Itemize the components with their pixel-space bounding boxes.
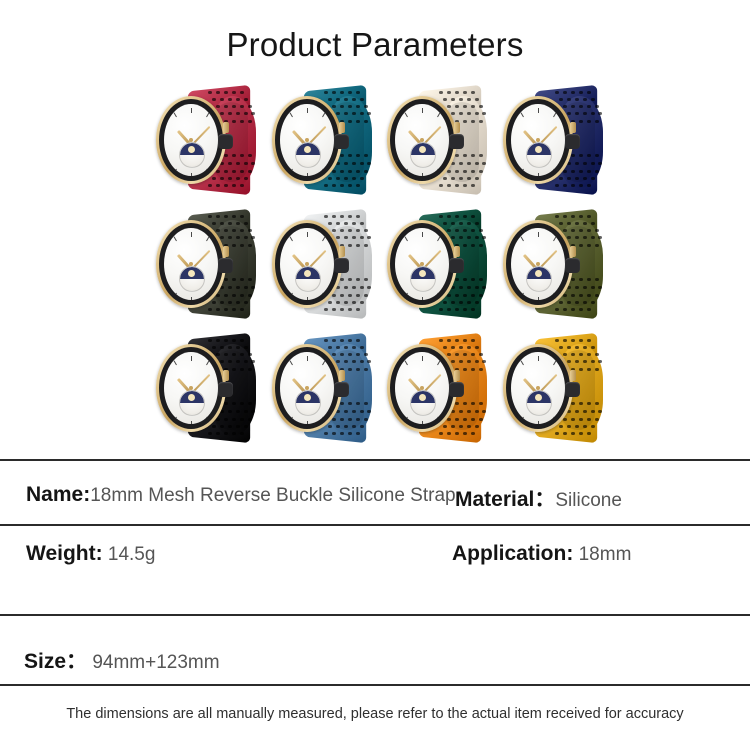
strap-perforation <box>248 368 252 371</box>
strap-perforation <box>591 222 595 225</box>
strap-perforation <box>240 244 244 247</box>
strap-perforation <box>463 154 467 157</box>
dial-hour-tick <box>322 169 325 174</box>
strap-perforation <box>224 353 228 356</box>
reverse-buckle-clasp <box>565 134 580 149</box>
watch-variant-row1-col4[interactable] <box>499 82 614 200</box>
strap-perforation <box>352 112 356 115</box>
strap-perforation <box>364 294 368 297</box>
moon-phase-icon <box>411 391 435 403</box>
strap-perforation <box>216 418 220 421</box>
strap-perforation <box>228 346 232 349</box>
strap-perforation <box>579 91 583 94</box>
strap-perforation <box>595 170 599 173</box>
strap-perforation <box>248 278 252 281</box>
strap-perforation <box>212 301 216 304</box>
watch-illustration <box>152 330 267 448</box>
strap-perforation <box>340 418 344 421</box>
strap-perforation <box>571 294 575 297</box>
strap-perforation <box>591 177 595 180</box>
dial-hour-tick <box>511 406 513 409</box>
dial-hour-tick <box>564 249 565 252</box>
dial-hour-tick <box>289 236 292 241</box>
strap-perforation <box>439 339 443 342</box>
dial-hour-tick <box>395 282 397 285</box>
spec-weight: Weight: 14.5g <box>26 542 155 566</box>
dial-hour-tick <box>553 417 556 422</box>
dial-hour-tick <box>280 125 282 128</box>
dial-hour-tick <box>405 417 408 422</box>
strap-perforation <box>598 410 602 413</box>
moon-phase-icon <box>180 391 204 403</box>
strap-perforation <box>224 278 228 281</box>
moon-phase-subdial <box>295 390 321 416</box>
dial-hour-tick <box>437 417 440 422</box>
strap-perforation <box>583 112 587 115</box>
strap-perforation <box>356 418 360 421</box>
strap-perforation <box>356 170 360 173</box>
strap-perforation <box>595 120 599 123</box>
dial-hour-tick <box>206 112 209 117</box>
strap-perforation <box>236 286 240 289</box>
dial-hour-tick <box>448 406 449 409</box>
strap-perforation <box>244 410 248 413</box>
strap-perforation <box>482 112 486 115</box>
watch-dial <box>280 104 334 176</box>
reverse-buckle-clasp <box>334 258 349 273</box>
strap-perforation <box>579 402 583 405</box>
moon-phase-subdial <box>410 142 436 168</box>
strap-perforation <box>240 229 244 232</box>
strap-perforation <box>348 91 352 94</box>
dial-hour-tick <box>422 421 423 424</box>
strap-perforation <box>575 222 579 225</box>
strap-perforation <box>471 353 475 356</box>
watch-variant-row1-col3[interactable] <box>383 82 498 200</box>
strap-perforation <box>216 294 220 297</box>
strap-perforation <box>244 236 248 239</box>
dial-hour-tick <box>174 360 177 365</box>
strap-perforation <box>587 278 591 281</box>
strap-perforation <box>356 120 360 123</box>
strap-perforation <box>232 278 236 281</box>
watch-variant-row3-col4[interactable] <box>499 330 614 448</box>
watch-case <box>272 344 342 432</box>
crown-button <box>339 370 345 381</box>
strap-perforation <box>467 162 471 165</box>
strap-perforation <box>328 177 332 180</box>
watch-case <box>272 96 342 184</box>
strap-perforation <box>216 353 220 356</box>
strap-perforation <box>598 236 602 239</box>
watch-illustration <box>499 206 614 324</box>
moon-phase-icon <box>527 143 551 155</box>
dial-hour-tick <box>206 360 209 365</box>
strap-perforation <box>559 177 563 180</box>
watch-variant-row1-col1[interactable] <box>152 82 267 200</box>
dial-hour-tick <box>217 158 218 161</box>
strap-perforation <box>579 308 583 311</box>
strap-perforation <box>248 244 252 247</box>
dial-hour-tick <box>289 169 292 174</box>
strap-perforation <box>244 286 248 289</box>
strap-perforation <box>479 294 483 297</box>
strap-perforation <box>463 170 467 173</box>
strap-perforation <box>208 339 212 342</box>
watch-illustration <box>152 206 267 324</box>
strap-perforation <box>475 286 479 289</box>
dial-hour-tick <box>448 125 449 128</box>
strap-perforation <box>571 402 575 405</box>
strap-perforation <box>471 91 475 94</box>
strap-perforation <box>579 229 583 232</box>
strap-perforation <box>348 432 352 435</box>
strap-perforation <box>575 360 579 363</box>
watch-variant-row3-col2[interactable] <box>268 330 383 448</box>
strap-perforation <box>336 222 340 225</box>
strap-perforation <box>571 184 575 187</box>
strap-perforation <box>344 425 348 428</box>
watch-variant-row2-col3[interactable] <box>383 206 498 324</box>
strap-perforation <box>455 294 459 297</box>
watch-bezel <box>390 347 454 429</box>
strap-perforation <box>356 278 360 281</box>
strap-perforation <box>467 301 471 304</box>
strap-perforation <box>340 229 344 232</box>
strap-perforation <box>591 410 595 413</box>
strap-perforation <box>232 402 236 405</box>
watch-variant-row3-col3[interactable] <box>383 330 498 448</box>
strap-perforation <box>240 432 244 435</box>
strap-perforation <box>248 229 252 232</box>
moon-phase-icon <box>527 267 551 279</box>
watch-illustration <box>383 82 498 200</box>
strap-perforation <box>236 177 240 180</box>
dial-hour-tick <box>538 421 539 424</box>
strap-perforation <box>352 177 356 180</box>
strap-perforation <box>364 278 368 281</box>
strap-perforation <box>232 170 236 173</box>
strap-perforation <box>348 184 352 187</box>
strap-perforation <box>240 339 244 342</box>
strap-perforation <box>591 360 595 363</box>
strap-perforation <box>356 432 360 435</box>
watch-bezel <box>506 99 570 181</box>
strap-perforation <box>352 346 356 349</box>
strap-perforation <box>587 215 591 218</box>
strap-perforation <box>216 432 220 435</box>
strap-perforation <box>447 353 451 356</box>
dial-hour-tick <box>307 297 308 300</box>
strap-perforation <box>340 91 344 94</box>
strap-perforation <box>459 286 463 289</box>
strap-perforation <box>575 98 579 101</box>
strap-perforation <box>555 432 559 435</box>
strap-perforation <box>579 184 583 187</box>
watch-dial <box>164 352 218 424</box>
strap-perforation <box>220 346 224 349</box>
spec-size: Size： 94mm+123mm <box>24 645 220 675</box>
strap-perforation <box>451 236 455 239</box>
dial-hour-tick <box>280 282 282 285</box>
strap-perforation <box>236 346 240 349</box>
strap-perforation <box>451 222 455 225</box>
reverse-buckle-clasp <box>218 134 233 149</box>
watch-bezel <box>275 347 339 429</box>
watch-bezel <box>506 347 570 429</box>
dial-hour-tick <box>206 293 209 298</box>
strap-perforation <box>240 91 244 94</box>
strap-perforation <box>479 418 483 421</box>
dial-hour-tick <box>448 249 449 252</box>
strap-perforation <box>332 91 336 94</box>
dial-hour-tick <box>553 112 556 117</box>
strap-perforation <box>240 120 244 123</box>
strap-perforation <box>575 346 579 349</box>
moon-phase-icon <box>296 267 320 279</box>
dial-hour-tick <box>405 293 408 298</box>
strap-perforation <box>479 402 483 405</box>
strap-perforation <box>447 229 451 232</box>
strap-perforation <box>587 120 591 123</box>
strap-perforation <box>224 402 228 405</box>
strap-perforation <box>475 236 479 239</box>
strap-perforation <box>467 410 471 413</box>
strap-perforation <box>479 353 483 356</box>
strap-perforation <box>571 432 575 435</box>
reverse-buckle-clasp <box>449 258 464 273</box>
strap-perforation <box>356 368 360 371</box>
strap-perforation <box>348 170 352 173</box>
strap-perforation <box>563 105 567 108</box>
strap-perforation <box>482 360 486 363</box>
strap-perforation <box>344 360 348 363</box>
strap-perforation <box>567 177 571 180</box>
strap-perforation <box>459 162 463 165</box>
watch-bezel <box>506 223 570 305</box>
strap-perforation <box>251 162 255 165</box>
strap-perforation <box>575 425 579 428</box>
strap-perforation <box>248 170 252 173</box>
crown-button <box>454 370 460 381</box>
dial-hour-tick <box>405 169 408 174</box>
spec-size-label: Size： <box>24 650 87 673</box>
strap-perforation <box>575 162 579 165</box>
strap-perforation <box>471 244 475 247</box>
strap-perforation <box>251 360 255 363</box>
strap-perforation <box>248 105 252 108</box>
strap-perforation <box>360 410 364 413</box>
strap-perforation <box>591 236 595 239</box>
strap-perforation <box>587 402 591 405</box>
strap-perforation <box>340 105 344 108</box>
strap-perforation <box>479 278 483 281</box>
dial-hour-tick <box>538 297 539 300</box>
strap-perforation <box>475 162 479 165</box>
moon-phase-icon <box>296 391 320 403</box>
watch-case <box>387 220 457 308</box>
strap-perforation <box>459 360 463 363</box>
strap-perforation <box>459 177 463 180</box>
watch-case <box>503 96 573 184</box>
watch-variant-row2-col4[interactable] <box>499 206 614 324</box>
dial-hour-tick <box>511 125 513 128</box>
strap-perforation <box>455 308 459 311</box>
strap-perforation <box>559 301 563 304</box>
strap-perforation <box>240 353 244 356</box>
strap-perforation <box>232 91 236 94</box>
moon-phase-subdial <box>526 142 552 168</box>
dial-hour-tick <box>448 158 449 161</box>
watch-variant-row3-col1[interactable] <box>152 330 267 448</box>
crown-button <box>454 122 460 133</box>
strap-perforation <box>348 339 352 342</box>
strap-perforation <box>328 301 332 304</box>
strap-perforation <box>220 301 224 304</box>
strap-perforation <box>467 360 471 363</box>
strap-perforation <box>555 308 559 311</box>
strap-perforation <box>447 215 451 218</box>
strap-perforation <box>360 301 364 304</box>
strap-perforation <box>575 177 579 180</box>
dial-hour-tick <box>405 236 408 241</box>
crown-button <box>339 122 345 133</box>
strap-perforation <box>571 353 575 356</box>
strap-perforation <box>563 353 567 356</box>
strap-perforation <box>232 353 236 356</box>
dial-hour-tick <box>520 360 523 365</box>
strap-perforation <box>344 112 348 115</box>
strap-perforation <box>228 286 232 289</box>
strap-perforation <box>248 418 252 421</box>
strap-perforation <box>332 215 336 218</box>
strap-perforation <box>348 308 352 311</box>
dial-hour-tick <box>206 417 209 422</box>
strap-perforation <box>463 308 467 311</box>
strap-perforation <box>356 308 360 311</box>
watch-variant-row2-col1[interactable] <box>152 206 267 324</box>
strap-perforation <box>364 229 368 232</box>
moon-phase-subdial <box>295 266 321 292</box>
page-title: Product Parameters <box>0 26 750 64</box>
strap-perforation <box>216 105 220 108</box>
reverse-buckle-clasp <box>218 382 233 397</box>
dial-hour-tick <box>422 108 423 113</box>
strap-perforation <box>579 294 583 297</box>
strap-perforation <box>248 294 252 297</box>
dial-hour-tick <box>538 173 539 176</box>
spec-material-label: Material： <box>455 488 555 511</box>
strap-perforation <box>344 346 348 349</box>
spec-name-value: 18mm Mesh Reverse Buckle Silicone Strap <box>90 485 455 506</box>
strap-perforation <box>575 286 579 289</box>
strap-perforation <box>583 236 587 239</box>
moon-phase-subdial <box>179 390 205 416</box>
strap-perforation <box>579 432 583 435</box>
strap-perforation <box>595 294 599 297</box>
strap-perforation <box>324 215 328 218</box>
strap-perforation <box>447 339 451 342</box>
strap-perforation <box>591 286 595 289</box>
strap-perforation <box>459 425 463 428</box>
strap-perforation <box>471 105 475 108</box>
strap-perforation <box>332 432 336 435</box>
dial-hour-tick <box>217 282 218 285</box>
strap-perforation <box>324 184 328 187</box>
strap-perforation <box>591 301 595 304</box>
strap-perforation <box>455 184 459 187</box>
strap-perforation <box>598 286 602 289</box>
strap-perforation <box>475 425 479 428</box>
dial-hour-tick <box>553 236 556 241</box>
strap-perforation <box>482 162 486 165</box>
strap-perforation <box>471 278 475 281</box>
strap-perforation <box>232 105 236 108</box>
strap-perforation <box>208 432 212 435</box>
strap-perforation <box>579 105 583 108</box>
dial-hour-tick <box>174 236 177 241</box>
watch-variant-row2-col2[interactable] <box>268 206 383 324</box>
strap-perforation <box>352 162 356 165</box>
strap-perforation <box>455 91 459 94</box>
dial-hour-tick <box>422 297 423 300</box>
strap-perforation <box>232 229 236 232</box>
moon-phase-subdial <box>410 390 436 416</box>
strap-perforation <box>447 418 451 421</box>
strap-perforation <box>220 222 224 225</box>
strap-perforation <box>463 418 467 421</box>
strap-perforation <box>583 346 587 349</box>
strap-perforation <box>591 162 595 165</box>
strap-perforation <box>482 236 486 239</box>
strap-perforation <box>587 154 591 157</box>
strap-perforation <box>451 360 455 363</box>
strap-perforation <box>216 339 220 342</box>
strap-perforation <box>244 301 248 304</box>
strap-perforation <box>567 222 571 225</box>
strap-perforation <box>479 105 483 108</box>
strap-perforation <box>571 339 575 342</box>
strap-perforation <box>240 278 244 281</box>
watch-variant-row1-col2[interactable] <box>268 82 383 200</box>
strap-perforation <box>360 360 364 363</box>
dial-hour-tick <box>217 249 218 252</box>
moon-phase-icon <box>411 267 435 279</box>
strap-perforation <box>224 105 228 108</box>
strap-perforation <box>475 360 479 363</box>
strap-perforation <box>463 215 467 218</box>
dial-hour-tick <box>307 421 308 424</box>
strap-perforation <box>356 154 360 157</box>
strap-perforation <box>598 162 602 165</box>
strap-perforation <box>595 402 599 405</box>
strap-perforation <box>451 177 455 180</box>
strap-perforation <box>332 229 336 232</box>
dial-hour-tick <box>405 360 408 365</box>
strap-perforation <box>583 286 587 289</box>
strap-perforation <box>598 360 602 363</box>
strap-perforation <box>232 154 236 157</box>
strap-perforation <box>236 301 240 304</box>
strap-perforation <box>228 410 232 413</box>
dial-hour-tick <box>164 282 166 285</box>
watch-color-grid <box>152 82 614 448</box>
divider-1 <box>0 459 750 461</box>
strap-perforation <box>559 222 563 225</box>
spec-application: Application: 18mm <box>452 542 631 566</box>
strap-perforation <box>463 432 467 435</box>
strap-perforation <box>587 184 591 187</box>
